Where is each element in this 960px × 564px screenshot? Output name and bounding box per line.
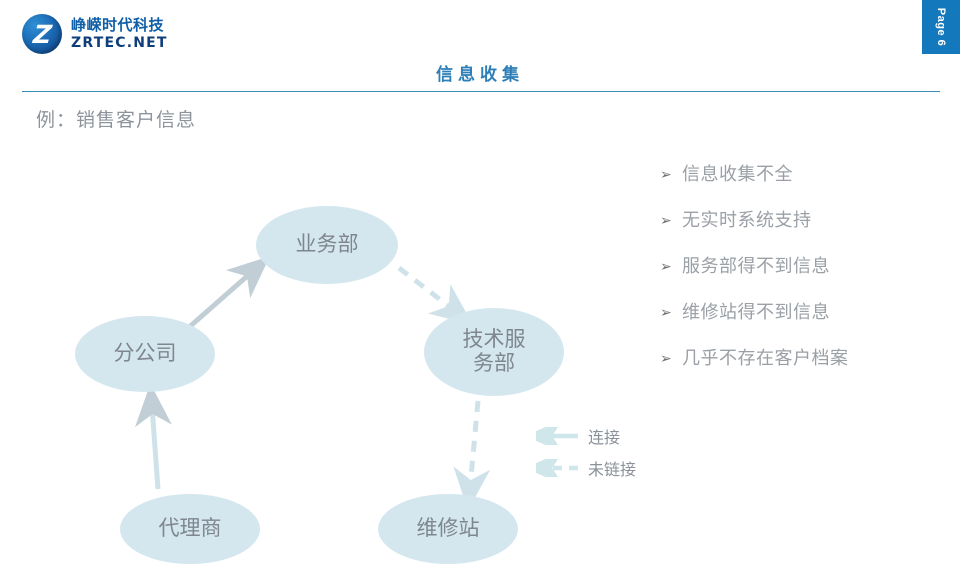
list-item: ➢ 信息收集不全: [660, 165, 950, 185]
bullet-arrow-icon: ➢: [660, 211, 682, 231]
bullet-arrow-icon: ➢: [660, 303, 682, 323]
page-title: 信息收集: [0, 60, 960, 85]
issues-list: ➢ 信息收集不全 ➢ 无实时系统支持 ➢ 服务部得不到信息 ➢ 维修站得不到信息…: [660, 165, 950, 395]
company-logo: Z 峥嵘时代科技 ZRTEC.NET: [22, 14, 168, 54]
list-item: ➢ 维修站得不到信息: [660, 303, 950, 323]
legend-label-connected: 连接: [588, 424, 620, 448]
node-label: 代理商: [159, 517, 222, 541]
node-branch-company[interactable]: 分公司: [75, 316, 215, 392]
page-number-label: Page 6: [935, 8, 947, 46]
bullet-arrow-icon: ➢: [660, 165, 682, 185]
list-item: ➢ 无实时系统支持: [660, 211, 950, 231]
node-label-line1: 技术服: [463, 327, 526, 351]
list-item-label: 几乎不存在客户档案: [682, 349, 849, 369]
list-item-label: 无实时系统支持: [682, 211, 812, 231]
node-label-line2: 务部: [473, 351, 515, 375]
list-item: ➢ 服务部得不到信息: [660, 257, 950, 277]
edge-dls-to-fgs: [152, 406, 158, 489]
legend-label-not-linked: 未链接: [588, 456, 636, 480]
edge-ywb-to-jsfwb: [399, 268, 455, 311]
slide-canvas: Z 峥嵘时代科技 ZRTEC.NET Page 6 信息收集 例：销售客户信息: [0, 0, 960, 540]
zrtec-circle-logo-icon: Z: [22, 14, 62, 54]
node-label: 业务部: [296, 233, 359, 257]
node-technical-service-department[interactable]: 技术服 务部: [424, 308, 564, 396]
bullet-arrow-icon: ➢: [660, 349, 682, 369]
node-repair-station[interactable]: 维修站: [378, 494, 518, 564]
node-label: 维修站: [417, 517, 480, 541]
legend-item-connected: 连接: [536, 420, 666, 452]
logo-company-cn: 峥嵘时代科技: [71, 18, 168, 33]
title-divider: [22, 91, 940, 92]
logo-z-glyph: Z: [20, 14, 64, 54]
node-business-department[interactable]: 业务部: [256, 206, 398, 284]
list-item-label: 维修站得不到信息: [682, 303, 830, 323]
legend-solid-arrow-icon: [536, 427, 580, 445]
edge-jsfwb-to-wxz: [470, 401, 478, 488]
edge-fgs-to-ywb: [187, 271, 253, 329]
node-label: 分公司: [114, 342, 177, 366]
logo-wordmark: 峥嵘时代科技 ZRTEC.NET: [71, 18, 168, 50]
page-number-badge: Page 6: [922, 0, 960, 54]
legend-dashed-arrow-icon: [536, 459, 580, 477]
list-item-label: 信息收集不全: [682, 165, 793, 185]
diagram-legend: 连接 未链接: [536, 420, 666, 484]
bullet-arrow-icon: ➢: [660, 257, 682, 277]
legend-item-not-linked: 未链接: [536, 452, 666, 484]
node-dealer[interactable]: 代理商: [120, 494, 260, 564]
logo-company-en: ZRTEC.NET: [71, 36, 168, 50]
list-item: ➢ 几乎不存在客户档案: [660, 349, 950, 369]
list-item-label: 服务部得不到信息: [682, 257, 830, 277]
node-label: 技术服 务部: [463, 328, 526, 375]
